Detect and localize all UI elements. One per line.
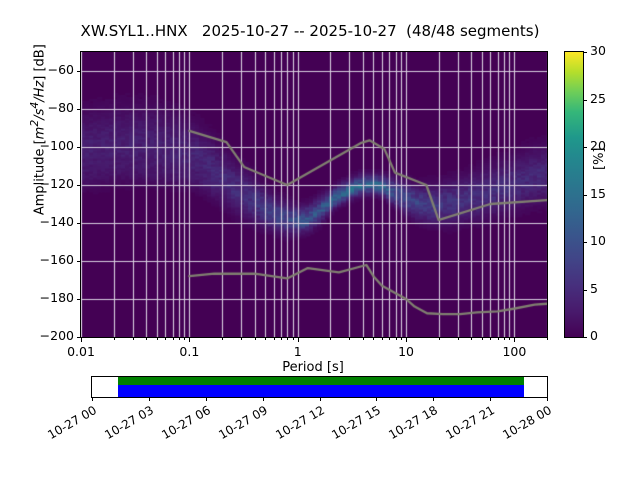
colorbar-tick-mark: [583, 290, 587, 291]
x-tick-mark: [458, 338, 459, 340]
colorbar-tick-label: 25: [590, 91, 606, 106]
x-tick-mark: [439, 338, 440, 340]
x-tick-mark: [114, 338, 115, 340]
colorbar-tick-label: 30: [590, 43, 606, 58]
coverage-tick-label: 10-27 15: [321, 403, 383, 447]
x-tick-mark: [173, 338, 174, 340]
colorbar-tick-mark: [583, 100, 587, 101]
x-tick-mark: [165, 338, 166, 340]
x-tick-mark: [241, 338, 242, 340]
x-tick-mark: [363, 338, 364, 340]
x-tick-mark: [298, 338, 299, 342]
coverage-tick-label: 10-27 18: [378, 403, 440, 447]
x-tick-mark: [396, 338, 397, 340]
x-tick-mark: [514, 338, 515, 342]
y-tick-label: −180: [23, 290, 74, 305]
x-tick-mark: [406, 338, 407, 342]
x-tick-mark: [81, 338, 82, 342]
colorbar-tick-label: 5: [590, 281, 598, 296]
x-tick-mark: [471, 338, 472, 340]
coverage-bar-segments: [118, 377, 524, 385]
x-tick-mark: [157, 338, 158, 340]
coverage-axes[interactable]: [91, 376, 548, 398]
coverage-tick-label: 10-28 00: [492, 403, 554, 447]
plot-title: XW.SYL1..HNX 2025-10-27 -- 2025-10-27 (4…: [0, 22, 620, 40]
x-axis-title: Period [s]: [80, 360, 546, 375]
x-tick-mark: [373, 338, 374, 340]
colorbar-tick-mark: [583, 52, 587, 53]
colorbar-tick-label: 0: [590, 328, 598, 343]
x-tick-mark: [255, 338, 256, 340]
coverage-tick-label: 10-27 06: [150, 403, 212, 447]
x-tick-mark: [281, 338, 282, 340]
coverage-tick-label: 10-27 09: [207, 403, 269, 447]
x-tick-mark: [349, 338, 350, 340]
colorbar-title: [%]: [592, 110, 607, 170]
coverage-tick-mark: [547, 397, 548, 401]
y-tick-mark: [77, 299, 81, 300]
x-tick-mark: [482, 338, 483, 340]
x-tick-mark: [293, 338, 294, 340]
x-tick-mark: [265, 338, 266, 340]
y-tick-mark: [77, 223, 81, 224]
x-tick-mark: [287, 338, 288, 340]
coverage-tick-mark: [433, 397, 434, 401]
x-tick-label: 100: [474, 344, 554, 359]
x-tick-mark: [274, 338, 275, 340]
colorbar-tick-label: 15: [590, 186, 606, 201]
x-tick-mark: [222, 338, 223, 340]
coverage-tick-label: 10-27 03: [93, 403, 155, 447]
colorbar-tick-mark: [583, 242, 587, 243]
coverage-tick-mark: [490, 397, 491, 401]
y-tick-mark: [77, 109, 81, 110]
coverage-tick-label: 10-27 21: [435, 403, 497, 447]
colorbar-tick-mark: [583, 195, 587, 196]
coverage-tick-mark: [206, 397, 207, 401]
y-tick-label: −200: [23, 328, 74, 343]
x-tick-mark: [389, 338, 390, 340]
x-tick-label: 10: [366, 344, 446, 359]
y-tick-mark: [77, 71, 81, 72]
x-tick-mark: [184, 338, 185, 340]
x-tick-mark: [382, 338, 383, 340]
ppsd-axes[interactable]: [80, 51, 548, 338]
x-tick-mark: [401, 338, 402, 340]
x-tick-label: 1: [258, 344, 338, 359]
x-tick-mark: [498, 338, 499, 340]
y-tick-mark: [77, 261, 81, 262]
x-tick-label: 0.01: [41, 344, 121, 359]
coverage-tick-mark: [376, 397, 377, 401]
x-tick-mark: [509, 338, 510, 340]
x-tick-mark: [133, 338, 134, 340]
coverage-tick-mark: [92, 397, 93, 401]
coverage-tick-mark: [149, 397, 150, 401]
coverage-tick-mark: [320, 397, 321, 401]
x-tick-mark: [504, 338, 505, 340]
colorbar: [564, 51, 584, 338]
ppsd-figure: XW.SYL1..HNX 2025-10-27 -- 2025-10-27 (4…: [0, 0, 640, 480]
y-tick-mark: [77, 185, 81, 186]
x-tick-mark: [179, 338, 180, 340]
x-tick-mark: [490, 338, 491, 340]
x-tick-mark: [146, 338, 147, 340]
coverage-tick-label: 10-27 12: [264, 403, 326, 447]
x-tick-mark: [547, 338, 548, 340]
y-tick-mark: [77, 147, 81, 148]
coverage-bar-data: [118, 385, 524, 397]
x-tick-mark: [189, 338, 190, 342]
x-tick-label: 0.1: [149, 344, 229, 359]
x-tick-mark: [330, 338, 331, 340]
y-axis-title: Amplitude [m2/s4/Hz] [dB]: [28, 0, 47, 260]
noise-model-curves: [81, 52, 547, 337]
colorbar-tick-mark: [583, 147, 587, 148]
coverage-tick-label: 10-27 00: [37, 403, 99, 447]
colorbar-tick-mark: [583, 337, 587, 338]
coverage-tick-mark: [263, 397, 264, 401]
colorbar-tick-label: 10: [590, 233, 606, 248]
